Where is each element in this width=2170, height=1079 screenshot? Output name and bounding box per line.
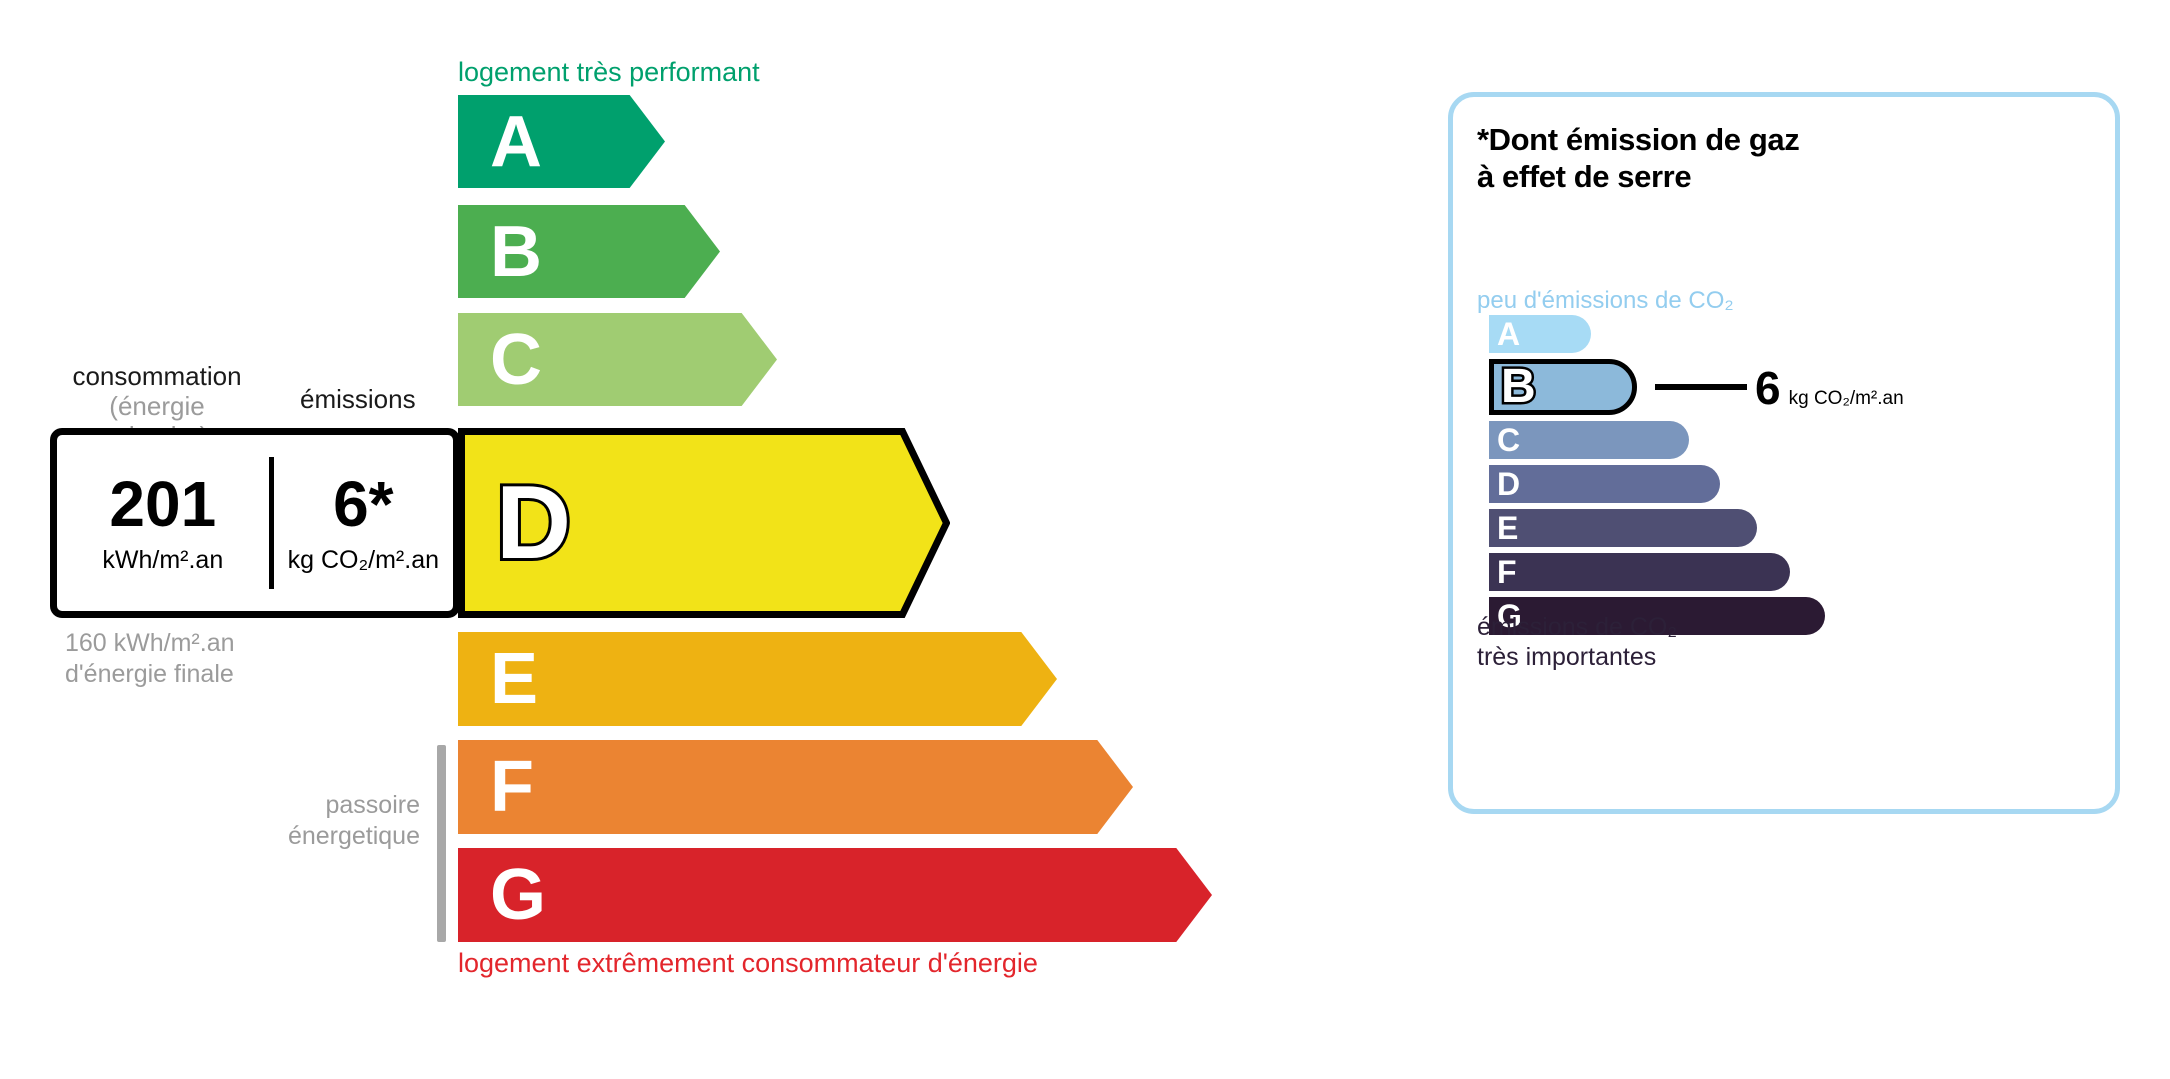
co2-panel-title-line1: *Dont émission de gaz: [1477, 122, 1799, 159]
consommation-label-main: consommation: [62, 362, 252, 392]
co2-class-f: F: [1489, 553, 1790, 591]
emission-readout: 6* kg CO₂/m².an: [274, 435, 453, 611]
co2-bar-list: AB6kg CO₂/m².anCDEFG: [1489, 315, 1919, 605]
final-energy-text: d'énergie finale: [65, 659, 235, 690]
readout-box: 201 kWh/m².an 6* kg CO₂/m².an: [50, 428, 460, 618]
emissions-label: émissions: [300, 384, 416, 415]
energy-class-e: E: [458, 632, 1057, 726]
passoire-label-line2: énergetique: [200, 821, 420, 852]
energy-class-a-letter: A: [490, 106, 542, 178]
co2-class-f-bar: [1489, 553, 1790, 591]
energy-class-e-shape: [458, 632, 1057, 726]
dpe-diagram: logement très performant ABCDEFG logemen…: [0, 0, 2170, 1079]
energy-class-g-shape: [458, 848, 1212, 942]
co2-panel-title: *Dont émission de gaz à effet de serre: [1477, 122, 1799, 195]
passoire-bracket: [437, 745, 446, 942]
co2-top-caption: peu d'émissions de CO₂: [1477, 287, 1734, 315]
co2-panel: *Dont émission de gaz à effet de serre p…: [1448, 92, 2120, 814]
consumption-readout: 201 kWh/m².an: [57, 435, 269, 611]
co2-class-c: C: [1489, 421, 1689, 459]
co2-class-a: A: [1489, 315, 1591, 353]
energy-class-d: D: [458, 428, 950, 618]
energy-scale-top-caption: logement très performant: [458, 57, 760, 88]
co2-class-e: E: [1489, 509, 1757, 547]
co2-class-b-letter: B: [1501, 363, 1536, 411]
co2-panel-title-line2: à effet de serre: [1477, 159, 1799, 196]
co2-leader-line: [1655, 384, 1747, 390]
co2-readout-value: 6: [1755, 365, 1781, 411]
energy-class-g-letter: G: [490, 859, 546, 931]
co2-bottom-caption-line2: très importantes: [1477, 643, 1677, 673]
energy-class-c: C: [458, 313, 777, 406]
final-energy-label: 160 kWh/m².an d'énergie finale: [65, 628, 235, 691]
energy-class-f-shape: [458, 740, 1133, 834]
passoire-label: passoire énergetique: [200, 790, 420, 853]
energy-class-f-letter: F: [490, 751, 534, 823]
co2-class-e-letter: E: [1497, 512, 1518, 544]
energy-class-c-letter: C: [490, 324, 542, 396]
co2-bottom-caption: émissions de CO₂ très importantes: [1477, 613, 1677, 672]
consumption-unit: kWh/m².an: [102, 546, 223, 575]
co2-class-f-letter: F: [1497, 556, 1517, 588]
energy-class-a: A: [458, 95, 665, 188]
co2-class-a-letter: A: [1497, 318, 1520, 350]
co2-class-b: B: [1489, 359, 1637, 415]
co2-class-d-bar: [1489, 465, 1720, 503]
emission-unit: kg CO₂/m².an: [288, 546, 439, 575]
consumption-value: 201: [109, 472, 216, 536]
energy-class-g: G: [458, 848, 1212, 942]
co2-bottom-caption-line1: émissions de CO₂: [1477, 613, 1677, 643]
co2-class-e-bar: [1489, 509, 1757, 547]
co2-readout-unit: kg CO₂/m².an: [1789, 388, 1904, 410]
energy-class-e-letter: E: [490, 643, 538, 715]
emission-value: 6*: [333, 472, 394, 536]
co2-readout: 6kg CO₂/m².an: [1755, 365, 1904, 411]
co2-class-d-letter: D: [1497, 468, 1520, 500]
energy-class-b-letter: B: [490, 216, 542, 288]
passoire-label-line1: passoire: [200, 790, 420, 821]
energy-scale-bottom-caption: logement extrêmement consommateur d'éner…: [458, 948, 1038, 979]
energy-class-b: B: [458, 205, 720, 298]
energy-class-d-letter: D: [496, 471, 571, 575]
energy-scale: logement très performant ABCDEFG logemen…: [0, 0, 1400, 1000]
co2-class-d: D: [1489, 465, 1720, 503]
energy-class-f: F: [458, 740, 1133, 834]
final-energy-value: 160 kWh/m².an: [65, 628, 235, 659]
co2-class-c-letter: C: [1497, 424, 1520, 456]
